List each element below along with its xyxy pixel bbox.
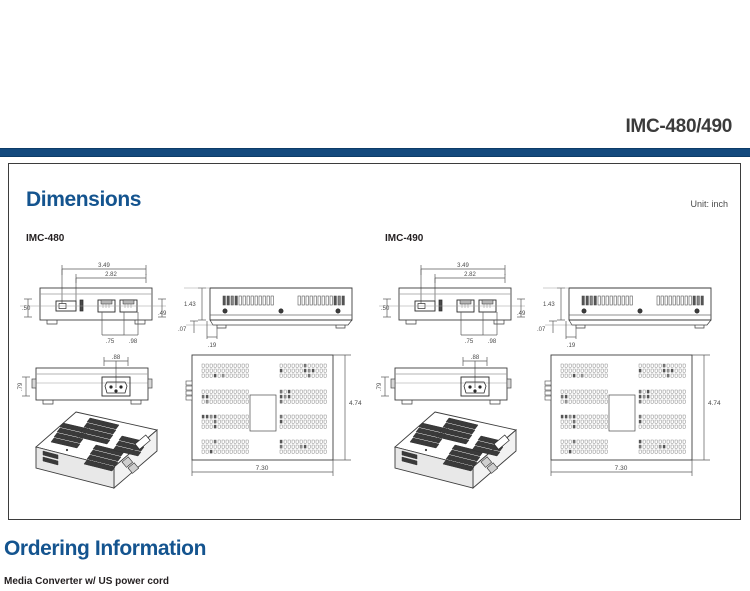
isometric-view-490: [395, 412, 516, 488]
dim-text-point-49: .49: [517, 311, 526, 317]
dim-text-7-30: 7.30: [615, 465, 628, 472]
technical-drawing-imc-480: 3.49 2.82: [14, 255, 374, 500]
drawing-group-imc-480: 3.49 2.82: [14, 255, 374, 500]
vent-bank-left: [223, 296, 273, 305]
dim-text-point-79: .79: [18, 382, 24, 391]
dim-text-2-82: 2.82: [464, 272, 476, 278]
top-plan-view-490: 7.30 4.74: [545, 355, 721, 476]
dim-text-point-07: .07: [178, 327, 187, 333]
model-label-imc-480: IMC-480: [26, 233, 64, 244]
dim-text-point-49: .49: [158, 311, 167, 317]
dim-text-point-98: .98: [488, 339, 497, 345]
vent-bank-right: [657, 296, 703, 305]
dim-text-3-49: 3.49: [457, 263, 469, 269]
dim-text-4-74: 4.74: [349, 400, 362, 407]
side-vent-view-480: 1.43 .07 .19: [178, 288, 352, 349]
header-divider-rule: [0, 148, 750, 157]
dim-text-1-43: 1.43: [543, 302, 555, 308]
dimensions-heading: Dimensions: [26, 189, 141, 210]
dim-text-point-88: .88: [471, 355, 480, 361]
model-label-imc-490: IMC-490: [385, 233, 423, 244]
dim-text-point-50: .50: [381, 306, 390, 312]
dim-text-point-98: .98: [129, 339, 138, 345]
page-header: IMC-480/490: [0, 0, 750, 152]
dim-text-point-07: .07: [537, 327, 546, 333]
dim-text-point-79: .79: [377, 382, 383, 391]
page-title: IMC-480/490: [625, 117, 732, 136]
drawing-group-imc-490: 3.49 2.82: [373, 255, 733, 500]
dim-text-point-75: .75: [465, 339, 474, 345]
dim-text-point-19: .19: [567, 343, 576, 349]
dim-text-point-50: .50: [22, 306, 31, 312]
ordering-information-heading: Ordering Information: [4, 538, 206, 559]
isometric-view-480: [36, 412, 157, 488]
unit-note: Unit: inch: [690, 199, 728, 209]
top-label-plate: [250, 395, 276, 431]
dim-text-1-43: 1.43: [184, 302, 196, 308]
vent-bank-right: [298, 296, 344, 305]
dim-text-point-88: .88: [112, 355, 121, 361]
ordering-subtitle: Media Converter w/ US power cord: [4, 576, 169, 587]
dim-text-2-82: 2.82: [105, 272, 117, 278]
side-vent-view-490: 1.43 .07 .19: [537, 288, 711, 349]
dim-text-7-30: 7.30: [256, 465, 269, 472]
vent-bank-left: [582, 296, 632, 305]
top-plan-view-480: 7.30 4.74: [186, 355, 362, 476]
front-panel-view-480: 3.49 2.82: [20, 263, 167, 345]
dim-text-point-75: .75: [106, 339, 115, 345]
top-label-plate: [609, 395, 635, 431]
rear-panel-view-480: .88: [18, 355, 152, 404]
dim-text-3-49: 3.49: [98, 263, 110, 269]
rear-panel-view-490: .88 .79: [377, 355, 511, 404]
dim-text-point-19: .19: [208, 343, 217, 349]
dim-text-4-74: 4.74: [708, 400, 721, 407]
front-panel-view-490: 3.49 2.82: [379, 263, 526, 345]
technical-drawing-imc-490: 3.49 2.82: [373, 255, 733, 500]
